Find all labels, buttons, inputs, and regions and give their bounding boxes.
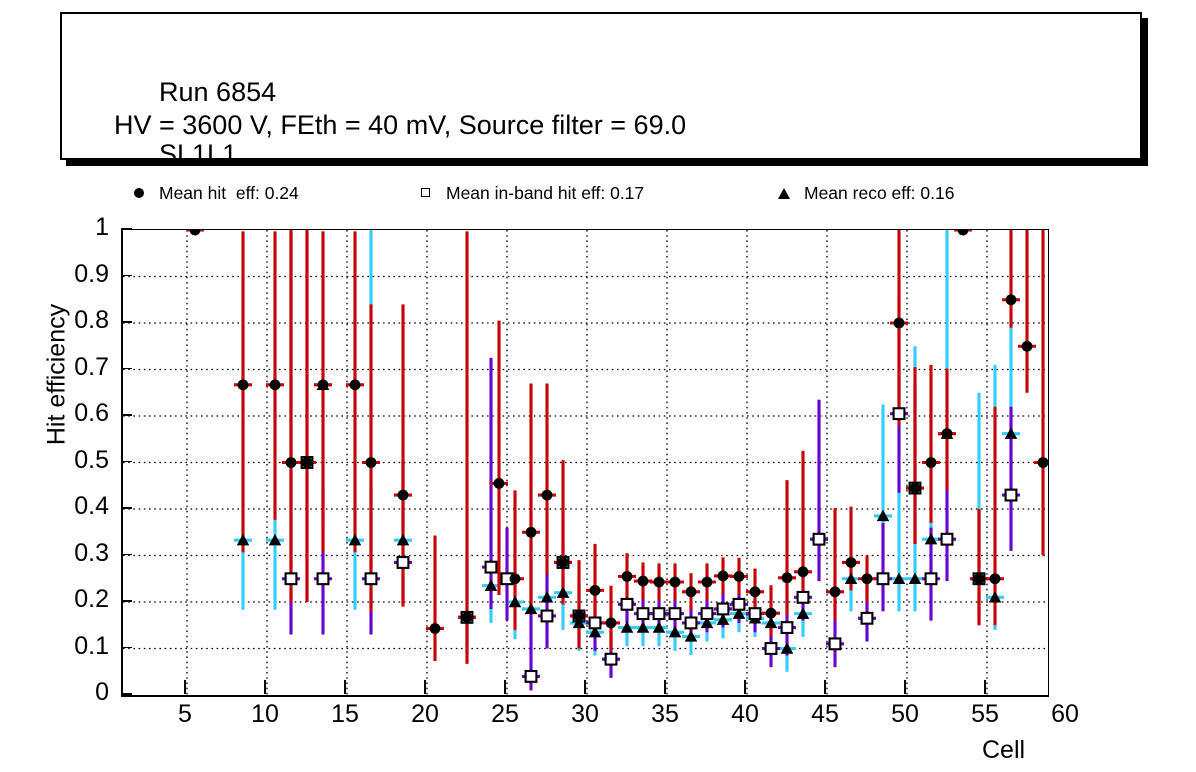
- y-axis-tick-label: 1: [9, 213, 109, 242]
- y-axis-tick-label: 0.1: [9, 632, 109, 661]
- x-axis-tick-label: 10: [230, 700, 300, 729]
- axis-label-layer: 00.10.20.30.40.50.60.70.80.9151015202530…: [0, 0, 1196, 772]
- x-axis-tick-label: 55: [950, 700, 1020, 729]
- x-axis-tick-label: 5: [150, 700, 220, 729]
- x-axis-tick-label: 50: [870, 700, 940, 729]
- x-axis-tick-label: 15: [310, 700, 380, 729]
- y-axis-tick-label: 0.2: [9, 585, 109, 614]
- y-axis-tick-label: 0.4: [9, 492, 109, 521]
- x-axis-tick-label: 25: [470, 700, 540, 729]
- y-axis-tick-label: 0.3: [9, 539, 109, 568]
- x-axis-tick-label: 20: [390, 700, 460, 729]
- x-axis-tick-label: 45: [790, 700, 860, 729]
- chart-page: Run 6854 SL1L1 HV = 3600 V, FEth = 40 mV…: [0, 0, 1196, 772]
- x-axis-title: Cell: [982, 736, 1025, 765]
- x-axis-tick-label: 40: [710, 700, 780, 729]
- x-axis-tick-label: 60: [1030, 700, 1100, 729]
- y-axis-title: Hit efficiency: [43, 260, 72, 490]
- x-axis-tick-label: 30: [550, 700, 620, 729]
- x-axis-tick-label: 35: [630, 700, 700, 729]
- y-axis-tick-label: 0: [9, 678, 109, 707]
